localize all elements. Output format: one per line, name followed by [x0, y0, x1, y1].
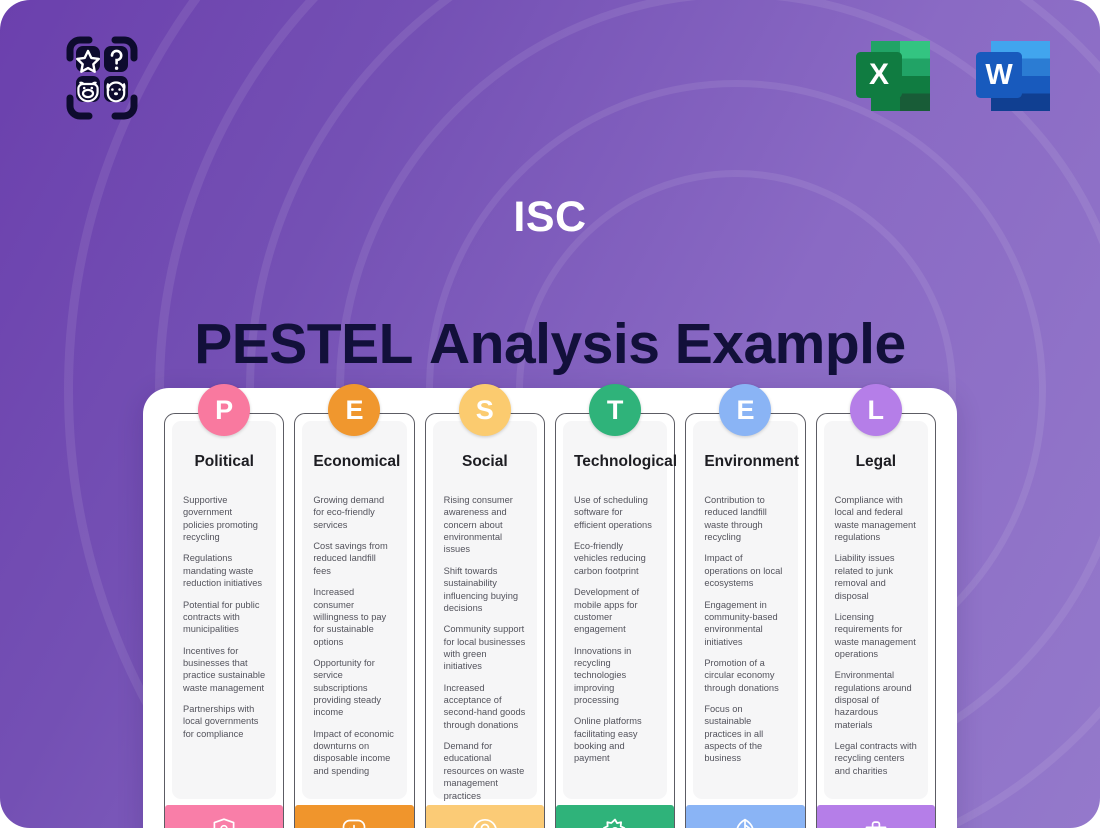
microsoft-excel-icon[interactable]: X	[846, 28, 942, 124]
column-body: TechnologicalUse of scheduling software …	[563, 421, 667, 799]
list-item: Cost savings from reduced landfill fees	[313, 540, 395, 577]
column-body: EnvironmentContribution to reduced landf…	[693, 421, 797, 799]
list-item: Shift towards sustainability influencing…	[444, 565, 526, 614]
list-item: Focus on sustainable practices in all as…	[704, 703, 786, 765]
column-title: Social	[444, 453, 526, 471]
list-item: Development of mobile apps for customer …	[574, 586, 656, 635]
list-item: Engagement in community-based environmen…	[704, 599, 786, 648]
column-title: Political	[183, 453, 265, 471]
list-item: Impact of operations on local ecosystems	[704, 552, 786, 589]
list-item: Online platforms facilitating easy booki…	[574, 715, 656, 764]
page-title-prefix: PESTEL	[194, 312, 413, 376]
column-body: SocialRising consumer awareness and conc…	[433, 421, 537, 799]
list-item: Compliance with local and federal waste …	[835, 494, 917, 543]
brand-name: ISC	[0, 196, 1100, 239]
pestel-columns: PPoliticalSupportive government policies…	[164, 413, 936, 828]
shield-person-icon[interactable]	[165, 805, 283, 828]
pestel-column-legal[interactable]: LLegalCompliance with local and federal …	[816, 413, 936, 828]
pestel-column-technological[interactable]: TTechnologicalUse of scheduling software…	[555, 413, 675, 828]
list-item: Legal contracts with recycling centers a…	[835, 740, 917, 777]
svg-text:X: X	[869, 58, 889, 91]
column-letter-badge: E	[328, 384, 380, 436]
column-title: Environment	[704, 453, 786, 471]
list-item: Opportunity for service subscriptions pr…	[313, 657, 395, 719]
svg-text:W: W	[985, 59, 1013, 91]
bar-chart-icon[interactable]	[295, 805, 413, 828]
microsoft-word-icon[interactable]: W	[966, 28, 1062, 124]
column-title: Technological	[574, 453, 656, 471]
list-item: Demand for educational resources on wast…	[444, 740, 526, 802]
list-item: Contribution to reduced landfill waste t…	[704, 494, 786, 543]
list-item: Incentives for businesses that practice …	[183, 645, 265, 694]
column-letter-badge: T	[589, 384, 641, 436]
column-body: LegalCompliance with local and federal w…	[824, 421, 928, 799]
user-circle-icon[interactable]	[426, 805, 544, 828]
list-item: Community support for local businesses w…	[444, 623, 526, 672]
column-body: EconomicalGrowing demand for eco-friendl…	[302, 421, 406, 799]
list-item: Innovations in recycling technologies im…	[574, 645, 656, 707]
list-item: Growing demand for eco-friendly services	[313, 494, 395, 531]
briefcase-icon[interactable]	[817, 805, 935, 828]
list-item: Partnerships with local governments for …	[183, 703, 265, 740]
slide-canvas: X W ISC PESTELAnalysis Example PPolitica…	[0, 0, 1100, 828]
pestel-column-environment[interactable]: EEnvironmentContribution to reduced land…	[685, 413, 805, 828]
column-letter-badge: E	[719, 384, 771, 436]
list-item: Impact of economic downturns on disposab…	[313, 728, 395, 777]
column-letter-badge: L	[850, 384, 902, 436]
pestel-column-social[interactable]: SSocialRising consumer awareness and con…	[425, 413, 545, 828]
leaf-icon[interactable]	[686, 805, 804, 828]
list-item: Liability issues related to junk removal…	[835, 552, 917, 601]
list-item: Use of scheduling software for efficient…	[574, 494, 656, 531]
quiz-animals-logo	[48, 24, 156, 132]
page-title-suffix: Analysis Example	[429, 312, 906, 376]
office-icons-group: X W	[846, 28, 1062, 124]
list-item: Promotion of a circular economy through …	[704, 657, 786, 694]
column-letter-badge: P	[198, 384, 250, 436]
column-title: Legal	[835, 453, 917, 471]
list-item: Rising consumer awareness and concern ab…	[444, 494, 526, 556]
column-points-list: Growing demand for eco-friendly services…	[313, 494, 395, 786]
page-title: PESTELAnalysis Example	[0, 313, 1100, 376]
list-item: Eco-friendly vehicles reducing carbon fo…	[574, 540, 656, 577]
column-points-list: Use of scheduling software for efficient…	[574, 494, 656, 774]
list-item: Licensing requirements for waste managem…	[835, 611, 917, 660]
list-item: Potential for public contracts with muni…	[183, 599, 265, 636]
column-points-list: Contribution to reduced landfill waste t…	[704, 494, 786, 774]
pestel-column-economical[interactable]: EEconomicalGrowing demand for eco-friend…	[294, 413, 414, 828]
gear-icon[interactable]	[556, 805, 674, 828]
pestel-column-political[interactable]: PPoliticalSupportive government policies…	[164, 413, 284, 828]
column-points-list: Supportive government policies promoting…	[183, 494, 265, 749]
list-item: Regulations mandating waste reduction in…	[183, 552, 265, 589]
list-item: Increased acceptance of second-hand good…	[444, 682, 526, 731]
list-item: Increased consumer willingness to pay fo…	[313, 586, 395, 648]
pestel-panel: PPoliticalSupportive government policies…	[143, 388, 957, 828]
column-points-list: Compliance with local and federal waste …	[835, 494, 917, 786]
list-item: Environmental regulations around disposa…	[835, 669, 917, 731]
column-points-list: Rising consumer awareness and concern ab…	[444, 494, 526, 811]
column-body: PoliticalSupportive government policies …	[172, 421, 276, 799]
column-title: Economical	[313, 453, 395, 471]
column-letter-badge: S	[459, 384, 511, 436]
list-item: Supportive government policies promoting…	[183, 494, 265, 543]
